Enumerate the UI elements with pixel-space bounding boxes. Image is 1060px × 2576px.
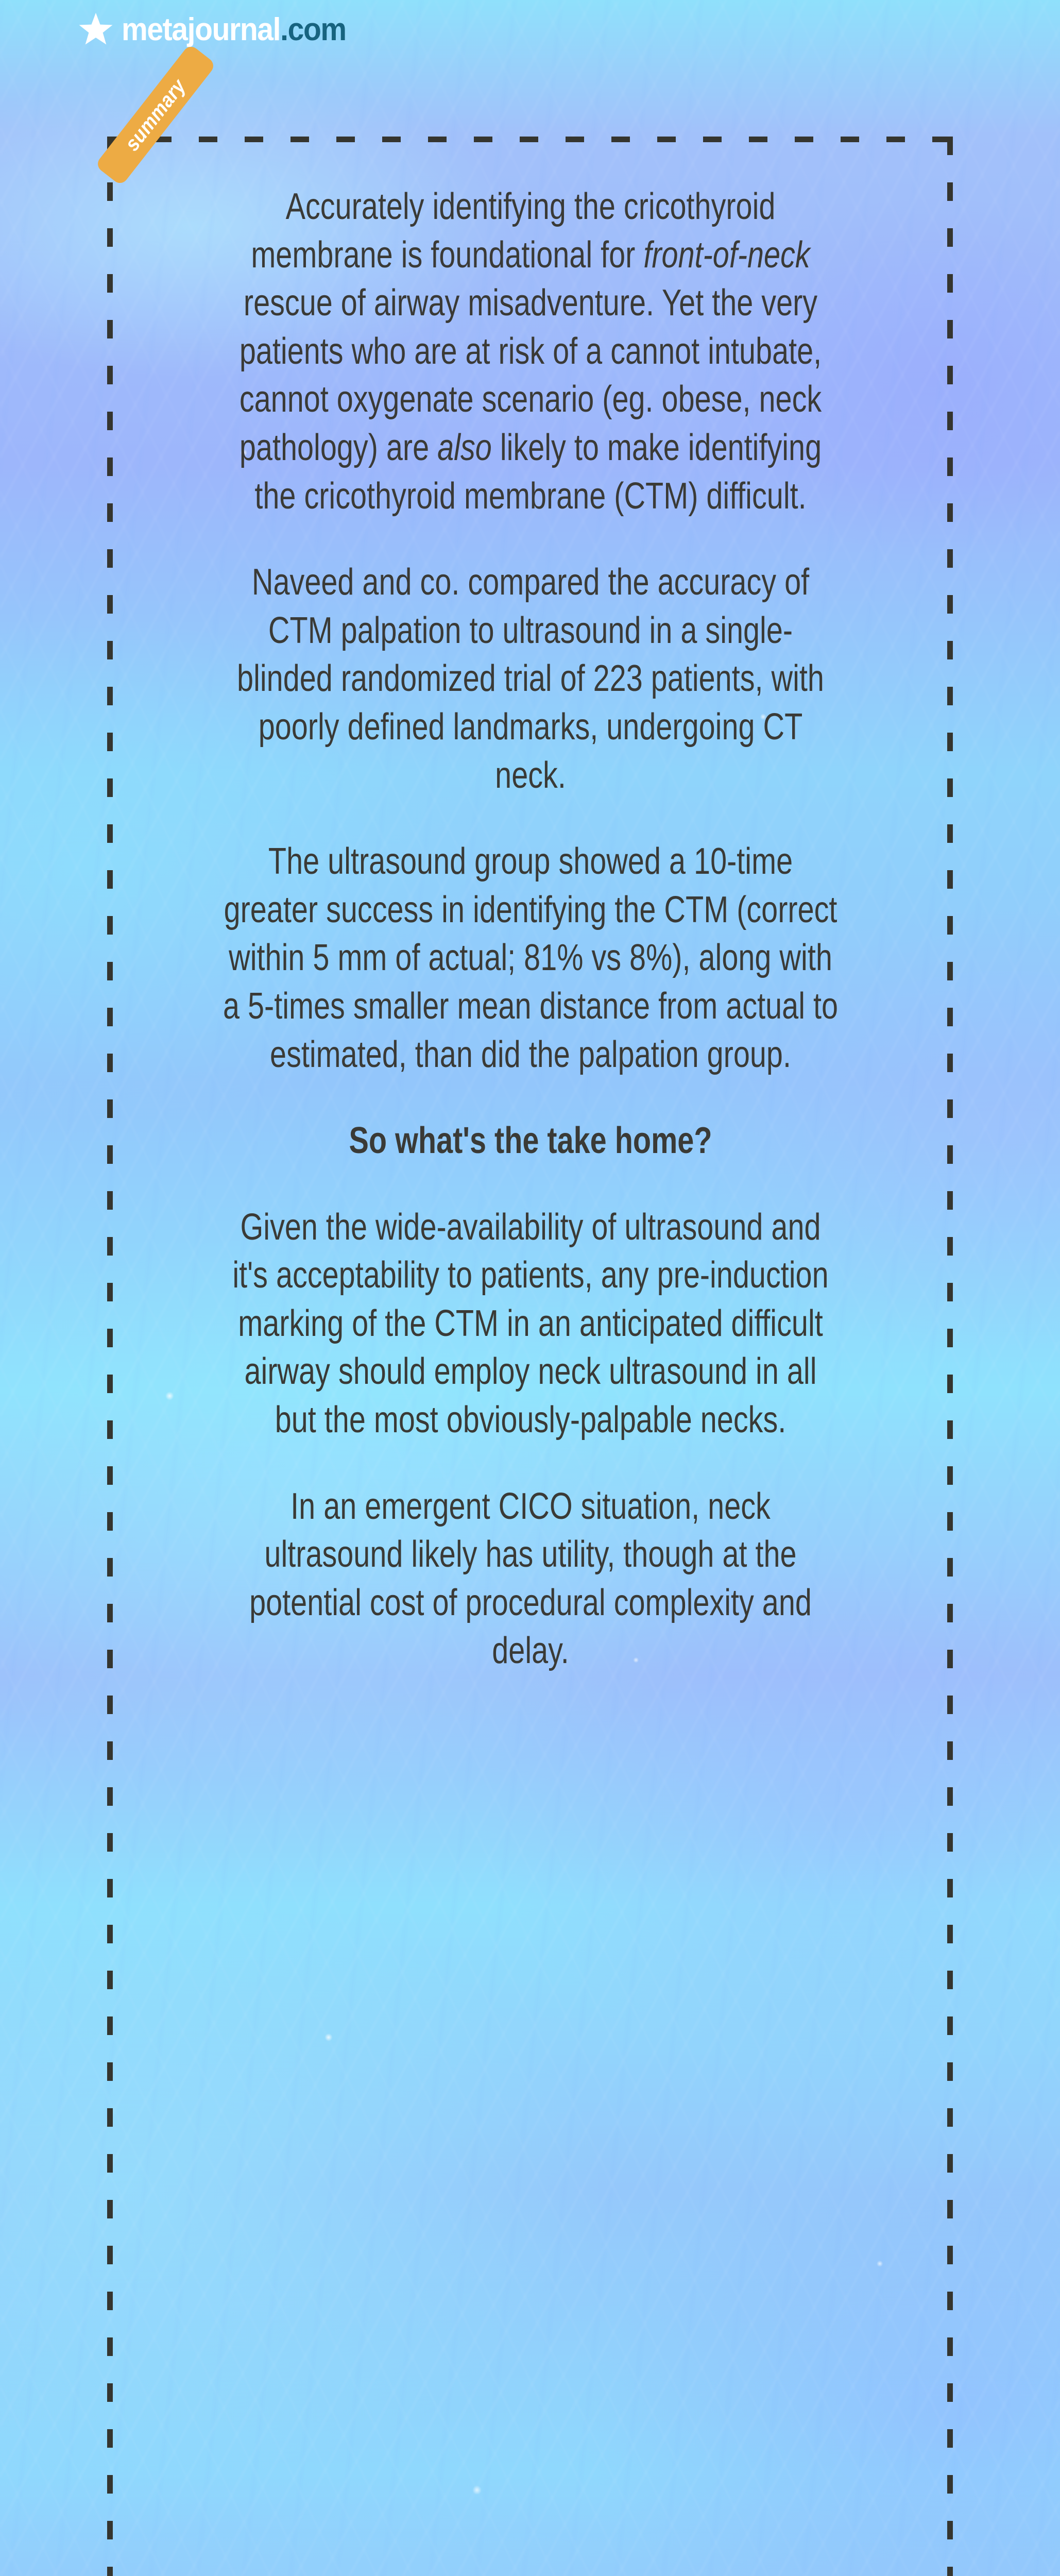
article-paragraph: Naveed and co. compared the accuracy of … (221, 558, 840, 800)
brand-wordmark: metajournal.com (122, 14, 346, 46)
brand-logo[interactable]: metajournal.com (77, 11, 366, 48)
article-paragraph: The ultrasound group showed a 10-time gr… (221, 838, 840, 1079)
text-run: In an emergent CICO situation, neck ultr… (249, 1486, 812, 1672)
frame-edge-left (107, 137, 113, 2576)
frame-edge-right (947, 137, 953, 2576)
article-paragraph: Accurately identifying the cricothyroid … (221, 183, 840, 520)
star-icon (77, 11, 114, 48)
article-subheading: So what's the take home? (221, 1117, 840, 1165)
brand-tld: .com (280, 12, 346, 47)
emphasis-text: front-of-neck (643, 234, 810, 276)
text-run: The ultrasound group showed a 10-time gr… (223, 841, 838, 1075)
article-body: Accurately identifying the cricothyroid … (221, 183, 840, 1675)
article-paragraph: In an emergent CICO situation, neck ultr… (221, 1483, 840, 1675)
brand-name: metajournal (122, 12, 280, 47)
text-run: Naveed and co. compared the accuracy of … (237, 562, 824, 795)
frame-edge-top (107, 137, 953, 142)
summary-card: metajournal.com summary → metajournal.co… (0, 0, 1060, 2576)
text-run: Given the wide-availability of ultrasoun… (232, 1207, 828, 1440)
strong-text: So what's the take home? (349, 1120, 712, 1161)
emphasis-text: also (437, 427, 492, 468)
article-paragraph: Given the wide-availability of ultrasoun… (221, 1204, 840, 1445)
